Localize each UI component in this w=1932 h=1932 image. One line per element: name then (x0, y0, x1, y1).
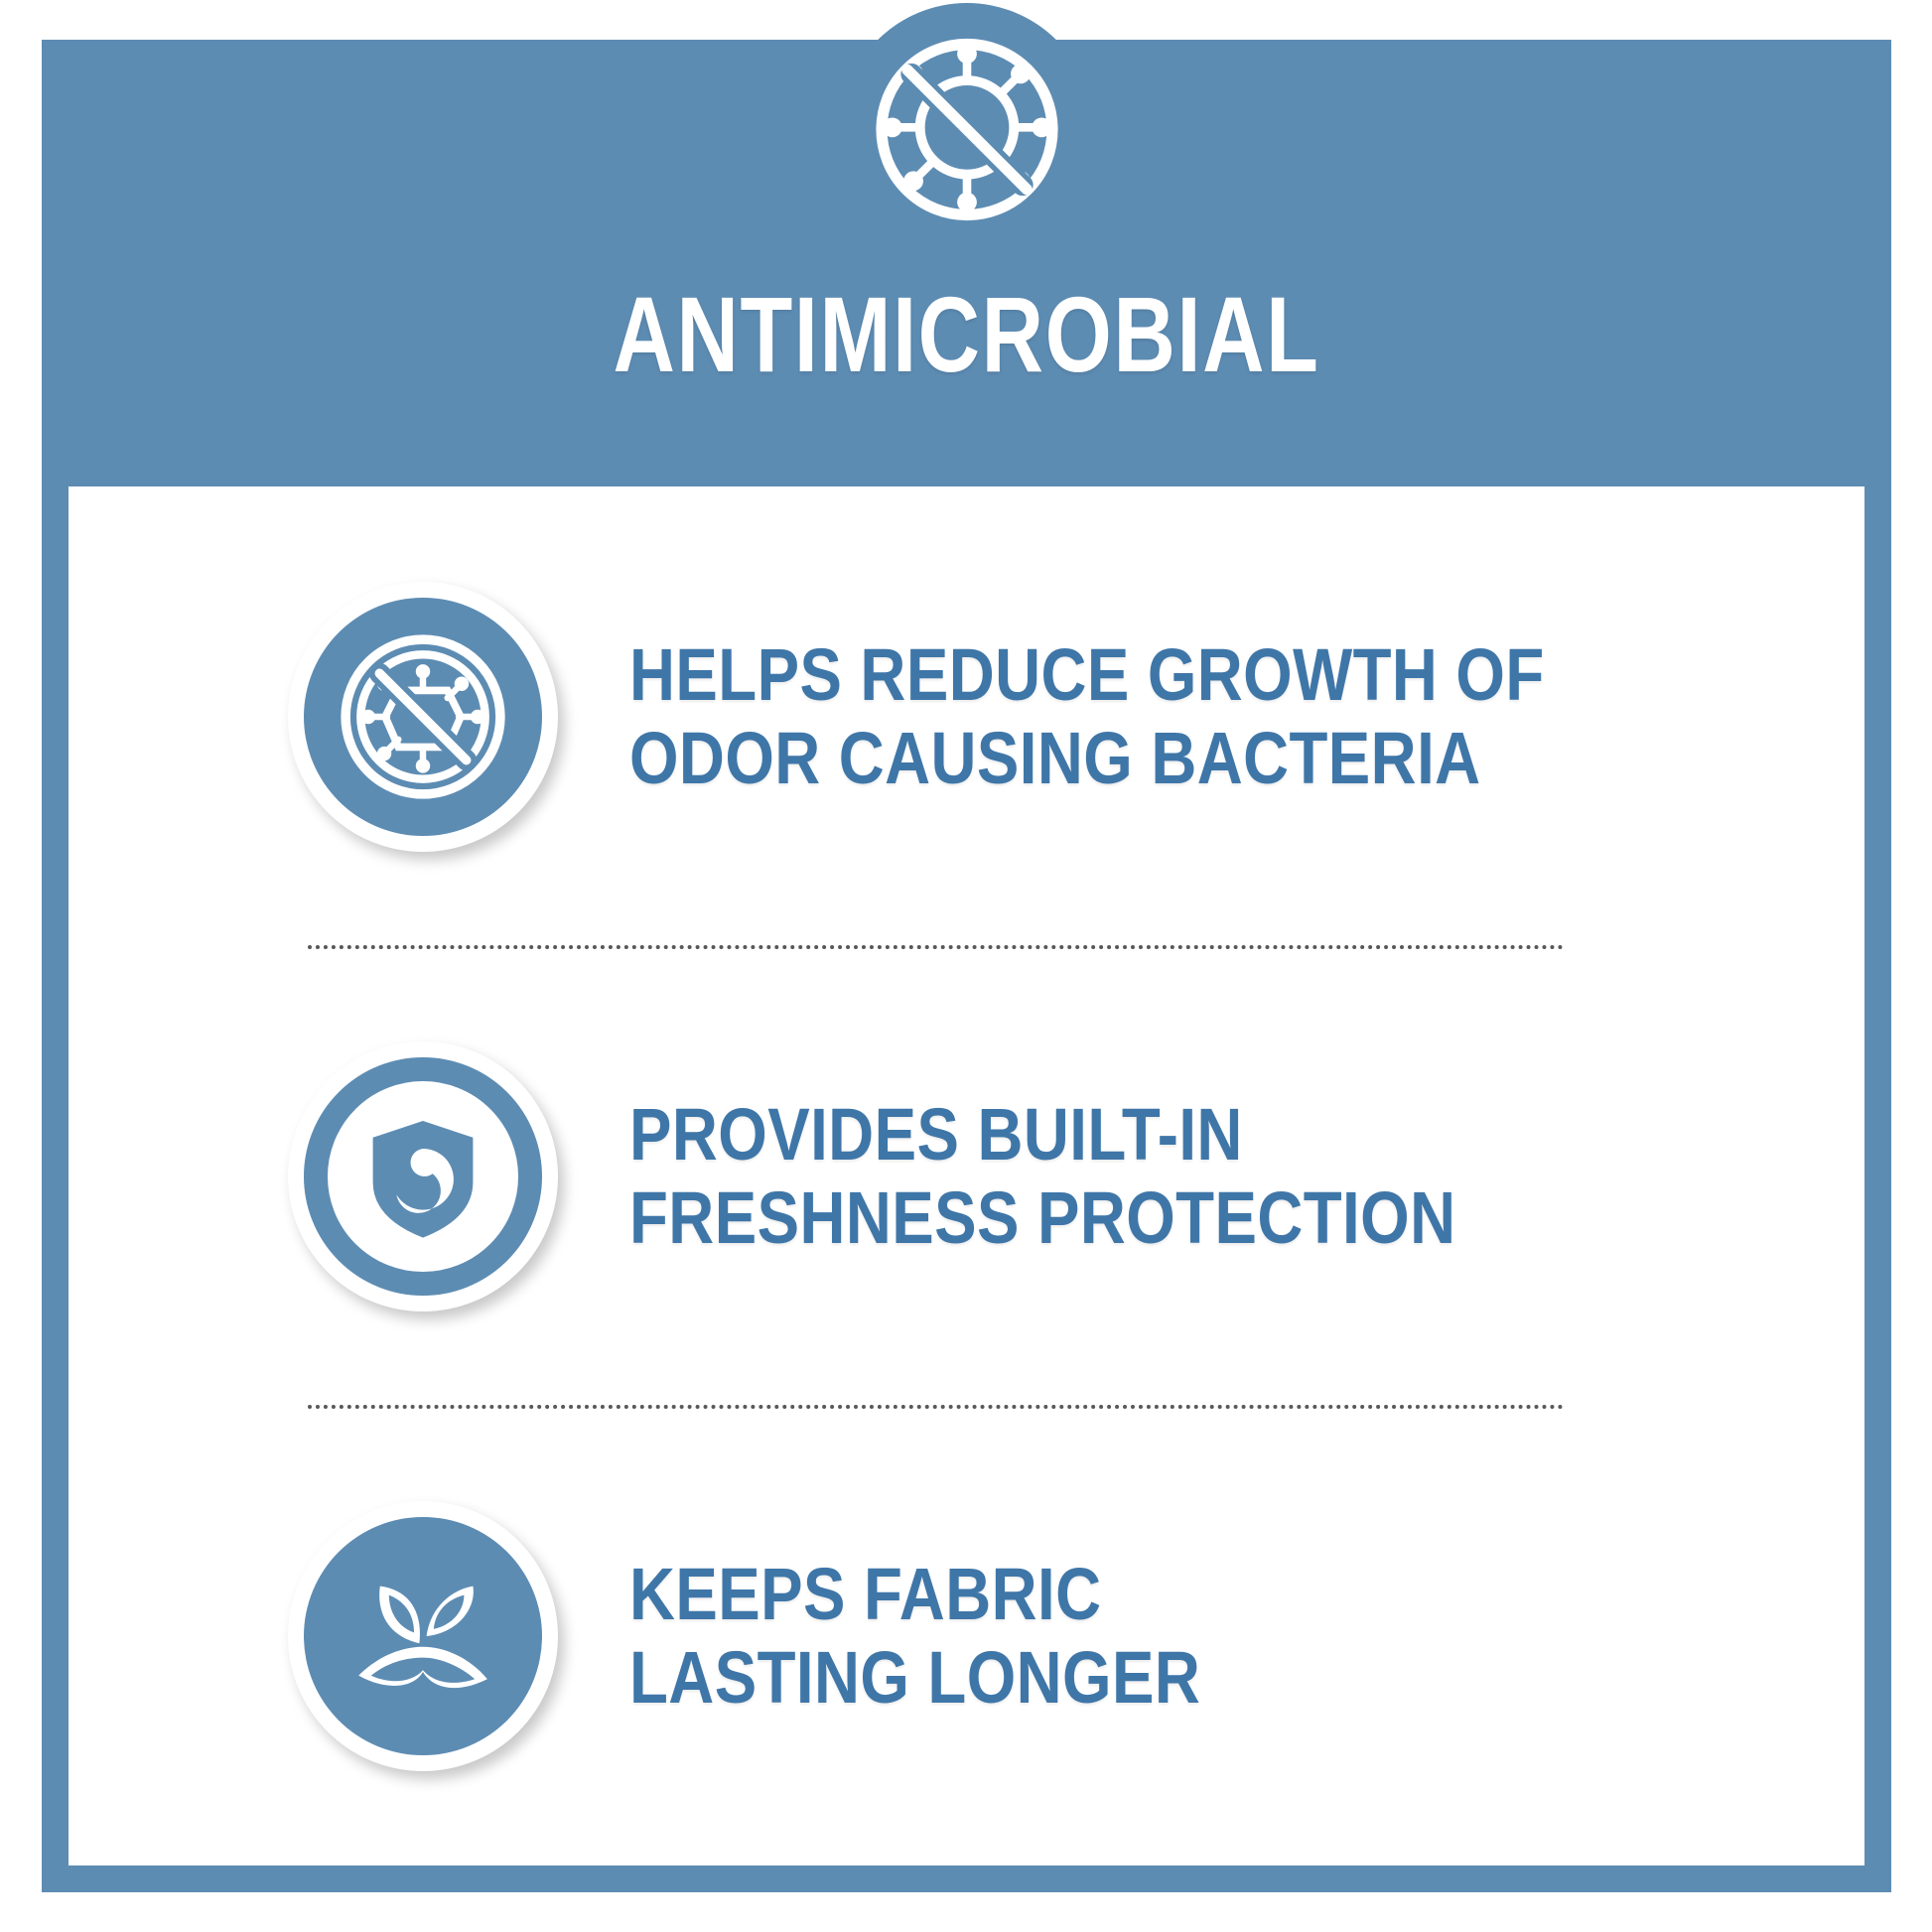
feature-text: PROVIDES BUILT-IN FRESHNESS PROTECTION (629, 1093, 1455, 1259)
header-band: ANTIMICROBIAL (42, 40, 1891, 486)
badge-disc (304, 598, 542, 836)
leaf-badge (288, 1501, 558, 1771)
shield-swirl-icon (353, 1107, 492, 1246)
no-virus-icon (329, 622, 517, 811)
no-virus-icon (860, 23, 1073, 236)
no-virus-badge (288, 582, 558, 852)
feature-line-2: ODOR CAUSING BACTERIA (629, 717, 1545, 800)
page-title: ANTIMICROBIAL (226, 281, 1706, 388)
shield-badge (288, 1041, 558, 1311)
feature-list: HELPS REDUCE GROWTH OF ODOR CAUSING BACT… (69, 486, 1863, 1865)
feature-text: HELPS REDUCE GROWTH OF ODOR CAUSING BACT… (629, 633, 1545, 799)
feature-line-1: PROVIDES BUILT-IN (629, 1093, 1243, 1175)
feature-text: KEEPS FABRIC LASTING LONGER (629, 1553, 1200, 1719)
feature-row: PROVIDES BUILT-IN FRESHNESS PROTECTION (69, 946, 1863, 1406)
feature-line-1: HELPS REDUCE GROWTH OF (629, 633, 1545, 716)
feature-row: KEEPS FABRIC LASTING LONGER (69, 1406, 1863, 1865)
header-no-virus-badge (840, 3, 1093, 256)
leaf-sprout-icon (334, 1547, 512, 1725)
content-panel: HELPS REDUCE GROWTH OF ODOR CAUSING BACT… (69, 486, 1863, 1865)
badge-disc (304, 1057, 542, 1296)
feature-line-2: FRESHNESS PROTECTION (629, 1176, 1455, 1260)
badge-disc (304, 1517, 542, 1755)
feature-line-1: KEEPS FABRIC (629, 1553, 1101, 1635)
feature-row: HELPS REDUCE GROWTH OF ODOR CAUSING BACT… (69, 486, 1863, 946)
feature-line-2: LASTING LONGER (629, 1636, 1200, 1720)
